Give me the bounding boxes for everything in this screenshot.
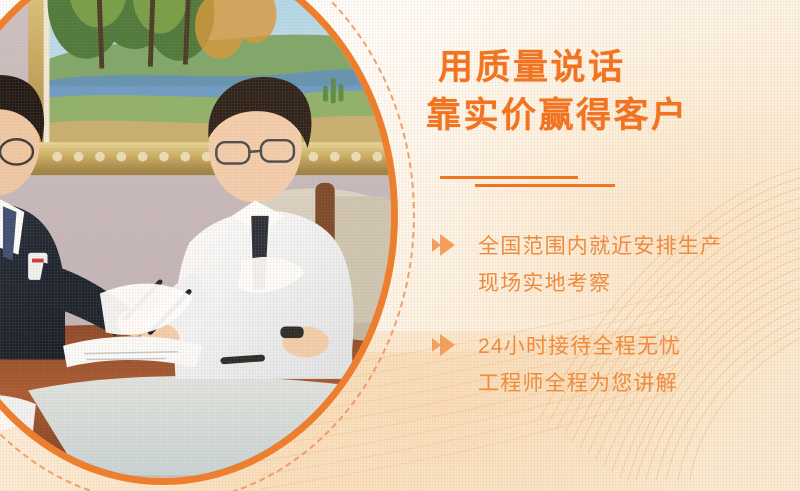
text-column: 用质量说话 靠实价赢得客户 全国范围内就近安排生产 现场实地考察 24小时接待全… (418, 0, 800, 491)
divider-line-upper (440, 176, 578, 179)
list-item-text: 24小时接待全程无忧 工程师全程为您讲解 (478, 328, 800, 402)
divider-line-lower (475, 184, 615, 187)
list-item-line: 24小时接待全程无忧 (478, 328, 800, 365)
list-item-line: 工程师全程为您讲解 (478, 365, 800, 402)
headline-divider (440, 176, 690, 194)
headline-block: 用质量说话 靠实价赢得客户 (426, 44, 798, 140)
headline-line-2: 靠实价赢得客户 (426, 92, 798, 140)
feature-list: 全国范围内就近安排生产 现场实地考察 24小时接待全程无忧 工程师全程为您讲解 (426, 228, 800, 428)
list-item-line: 现场实地考察 (478, 265, 800, 302)
list-item-text: 全国范围内就近安排生产 现场实地考察 (478, 228, 800, 302)
chevron-right-icon (440, 334, 455, 356)
list-item-line: 全国范围内就近安排生产 (478, 228, 800, 265)
chevron-right-icon (440, 234, 455, 256)
photo-medallion (0, 0, 398, 485)
list-item: 全国范围内就近安排生产 现场实地考察 (426, 228, 800, 302)
list-item: 24小时接待全程无忧 工程师全程为您讲解 (426, 328, 800, 402)
headline-line-1: 用质量说话 (438, 44, 798, 92)
promo-banner: 用质量说话 靠实价赢得客户 全国范围内就近安排生产 现场实地考察 24小时接待全… (0, 0, 800, 491)
